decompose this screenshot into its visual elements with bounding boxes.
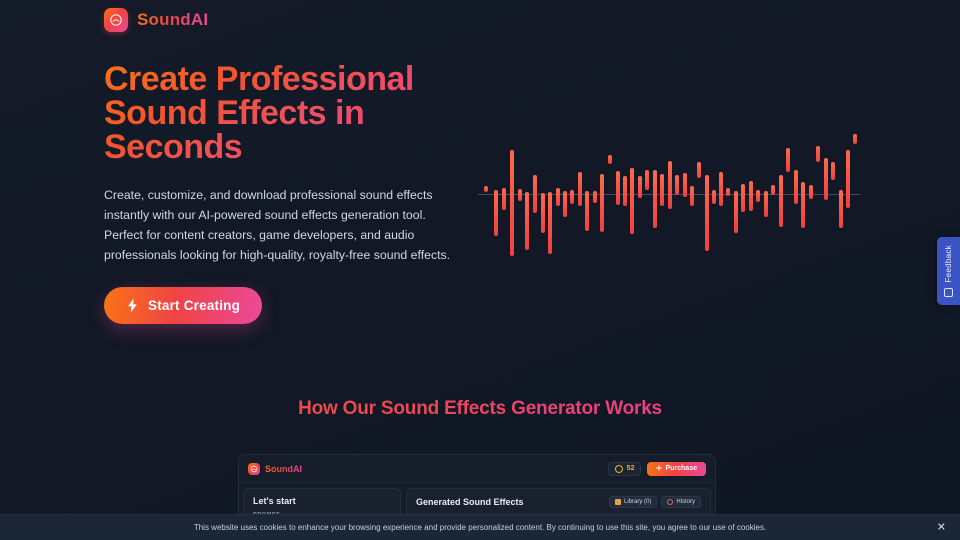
waveform-bar <box>756 190 760 202</box>
waveform-bar <box>764 191 768 217</box>
lightning-bolt-icon <box>126 298 139 313</box>
waveform-bar <box>548 192 552 254</box>
close-icon[interactable]: ✕ <box>937 522 946 533</box>
waveform-bar <box>846 150 850 208</box>
start-creating-label: Start Creating <box>148 298 240 313</box>
waveform-bar <box>779 175 783 227</box>
waveform-bar <box>794 170 798 204</box>
waveform-bar <box>541 193 545 233</box>
waveform-bar <box>563 191 567 217</box>
app-brand: SoundAI <box>248 463 302 475</box>
waveform-bar <box>690 186 694 206</box>
waveform-bar <box>616 171 620 205</box>
hero-description: Create, customize, and download professi… <box>104 186 452 266</box>
library-button[interactable]: Library (0) <box>609 496 657 508</box>
waveform-bar <box>638 176 642 198</box>
clock-icon <box>667 499 673 505</box>
waveform-bar <box>809 185 813 199</box>
plus-icon <box>656 465 662 473</box>
waveform-bar <box>831 162 835 180</box>
purchase-button[interactable]: Purchase <box>647 462 706 476</box>
waveform-bar <box>749 181 753 211</box>
cookie-banner-text: This website uses cookies to enhance you… <box>16 523 944 532</box>
waveform-bar <box>653 170 657 228</box>
library-label: Library (0) <box>624 499 651 505</box>
waveform-bar <box>525 192 529 250</box>
page-title: Create Professional Sound Effects in Sec… <box>104 62 474 164</box>
feedback-tab[interactable]: Feedback <box>937 237 960 305</box>
folder-icon <box>615 499 621 505</box>
hero-title-line-2: Sound Effects in <box>104 96 474 130</box>
history-label: History <box>676 499 695 505</box>
app-preview-toolbar: SoundAI 52 Purchase <box>239 455 715 483</box>
hero-title-line-1: Create Professional <box>104 62 474 96</box>
waveform-bar <box>570 190 574 204</box>
soundai-logo-icon[interactable] <box>104 8 128 32</box>
waveform-bar <box>771 185 775 195</box>
purchase-label: Purchase <box>665 465 697 472</box>
waveform-bar <box>719 172 723 206</box>
waveform-bar <box>816 146 820 162</box>
waveform-bar <box>630 168 634 234</box>
generated-effects-actions: Library (0) History <box>609 496 701 508</box>
waveform-bar <box>585 191 589 231</box>
waveform-bar <box>623 176 627 206</box>
waveform-bar <box>801 182 805 228</box>
waveform-bar <box>668 161 672 209</box>
waveform-bar <box>484 186 488 192</box>
waveform-bar <box>556 188 560 206</box>
start-creating-button[interactable]: Start Creating <box>104 287 262 324</box>
waveform-bar <box>645 170 649 190</box>
credits-badge[interactable]: 52 <box>608 462 642 476</box>
hero-title-line-3: Seconds <box>104 130 474 164</box>
waveform-bar <box>578 172 582 206</box>
app-brand-name: SoundAI <box>265 464 302 474</box>
waveform-bar <box>600 174 604 232</box>
waveform-bar <box>786 148 790 172</box>
waveform-bar <box>494 190 498 236</box>
waveform-bar <box>697 162 701 178</box>
prompt-panel-title: Let's start <box>253 496 391 506</box>
waveform-bar <box>518 189 522 201</box>
brand-name: SoundAI <box>137 10 208 30</box>
cookie-banner: This website uses cookies to enhance you… <box>0 514 960 540</box>
waveform-bar <box>683 173 687 197</box>
feedback-label: Feedback <box>944 245 953 283</box>
feedback-icon <box>944 288 953 297</box>
generated-effects-header: Generated Sound Effects Library (0) Hist… <box>416 496 701 508</box>
waveform-bar <box>608 155 612 164</box>
waveform-bar <box>502 188 506 210</box>
waveform-bar <box>853 134 857 144</box>
waveform-bar <box>734 191 738 233</box>
hero-section: Create Professional Sound Effects in Sec… <box>104 62 474 324</box>
waveform-bar <box>675 175 679 195</box>
waveform-bar <box>705 175 709 251</box>
coin-icon <box>615 465 623 473</box>
app-toolbar-actions: 52 Purchase <box>608 462 706 476</box>
site-header: SoundAI <box>104 8 208 32</box>
waveform-bar <box>712 190 716 204</box>
waveform-bar <box>510 150 514 256</box>
page-root: SoundAI Create Professional Sound Effect… <box>0 0 960 540</box>
waveform-bar <box>839 190 843 228</box>
credits-value: 52 <box>627 465 635 472</box>
soundai-logo-icon <box>248 463 260 475</box>
audio-waveform-visual <box>478 118 860 270</box>
history-button[interactable]: History <box>661 496 701 508</box>
waveform-bar <box>726 188 730 196</box>
waveform-bar <box>593 191 597 203</box>
generated-effects-title: Generated Sound Effects <box>416 497 524 507</box>
how-it-works-title: How Our Sound Effects Generator Works <box>0 398 960 420</box>
waveform-bar <box>660 174 664 206</box>
waveform-bar <box>741 184 745 212</box>
waveform-bar <box>824 158 828 200</box>
waveform-bar <box>533 175 537 213</box>
